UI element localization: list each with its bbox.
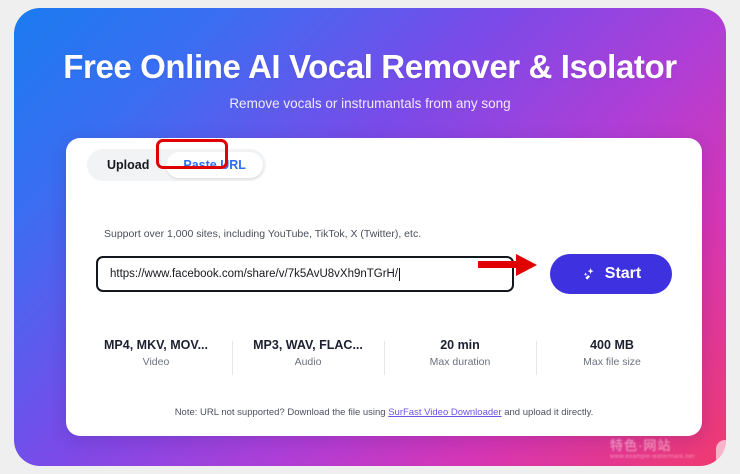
url-input[interactable]: https://www.facebook.com/share/v/7k5AvU8… [96, 256, 514, 292]
stat-max-duration: 20 min Max duration [384, 338, 536, 368]
spec-stats-row: MP4, MKV, MOV... Video MP3, WAV, FLAC...… [80, 338, 688, 368]
stat-audio: MP3, WAV, FLAC... Audio [232, 338, 384, 368]
site-watermark: 特色·网站 www.example-watermark.net [610, 438, 718, 466]
stat-label: Max duration [384, 356, 536, 368]
note-text: Note: URL not supported? Download the fi… [66, 407, 702, 418]
start-button[interactable]: Start [550, 254, 672, 294]
hero-gradient-panel: Free Online AI Vocal Remover & Isolator … [14, 8, 726, 466]
arrow-up-icon [723, 445, 726, 467]
page-root: Free Online AI Vocal Remover & Isolator … [0, 0, 740, 474]
tab-group: Upload Paste URL [87, 149, 266, 181]
stat-value: MP3, WAV, FLAC... [232, 338, 384, 352]
tool-card: Upload Paste URL Support over 1,000 site… [66, 138, 702, 436]
tab-upload[interactable]: Upload [90, 152, 166, 178]
supported-sites-text: Support over 1,000 sites, including YouT… [104, 228, 421, 240]
surfast-downloader-link[interactable]: SurFast Video Downloader [388, 407, 501, 418]
watermark-glyphs: 特色·网站 [610, 438, 718, 454]
page-title: Free Online AI Vocal Remover & Isolator [14, 48, 726, 86]
url-input-value: https://www.facebook.com/share/v/7k5AvU8… [110, 268, 398, 280]
note-prefix: Note: URL not supported? Download the fi… [175, 407, 389, 418]
stat-value: 20 min [384, 338, 536, 352]
stat-value: MP4, MKV, MOV... [80, 338, 232, 352]
stat-max-file-size: 400 MB Max file size [536, 338, 688, 368]
stat-label: Audio [232, 356, 384, 368]
page-subtitle: Remove vocals or instrumantals from any … [14, 96, 726, 111]
stat-label: Video [80, 356, 232, 368]
text-caret [399, 268, 400, 281]
start-button-label: Start [605, 265, 641, 283]
note-suffix: and upload it directly. [502, 407, 594, 418]
stat-value: 400 MB [536, 338, 688, 352]
tab-paste-url[interactable]: Paste URL [166, 152, 263, 178]
watermark-subtext: www.example-watermark.net [610, 454, 718, 460]
back-to-top-button[interactable] [716, 440, 726, 466]
stat-video: MP4, MKV, MOV... Video [80, 338, 232, 368]
stat-label: Max file size [536, 356, 688, 368]
sparkle-icon [581, 266, 597, 282]
